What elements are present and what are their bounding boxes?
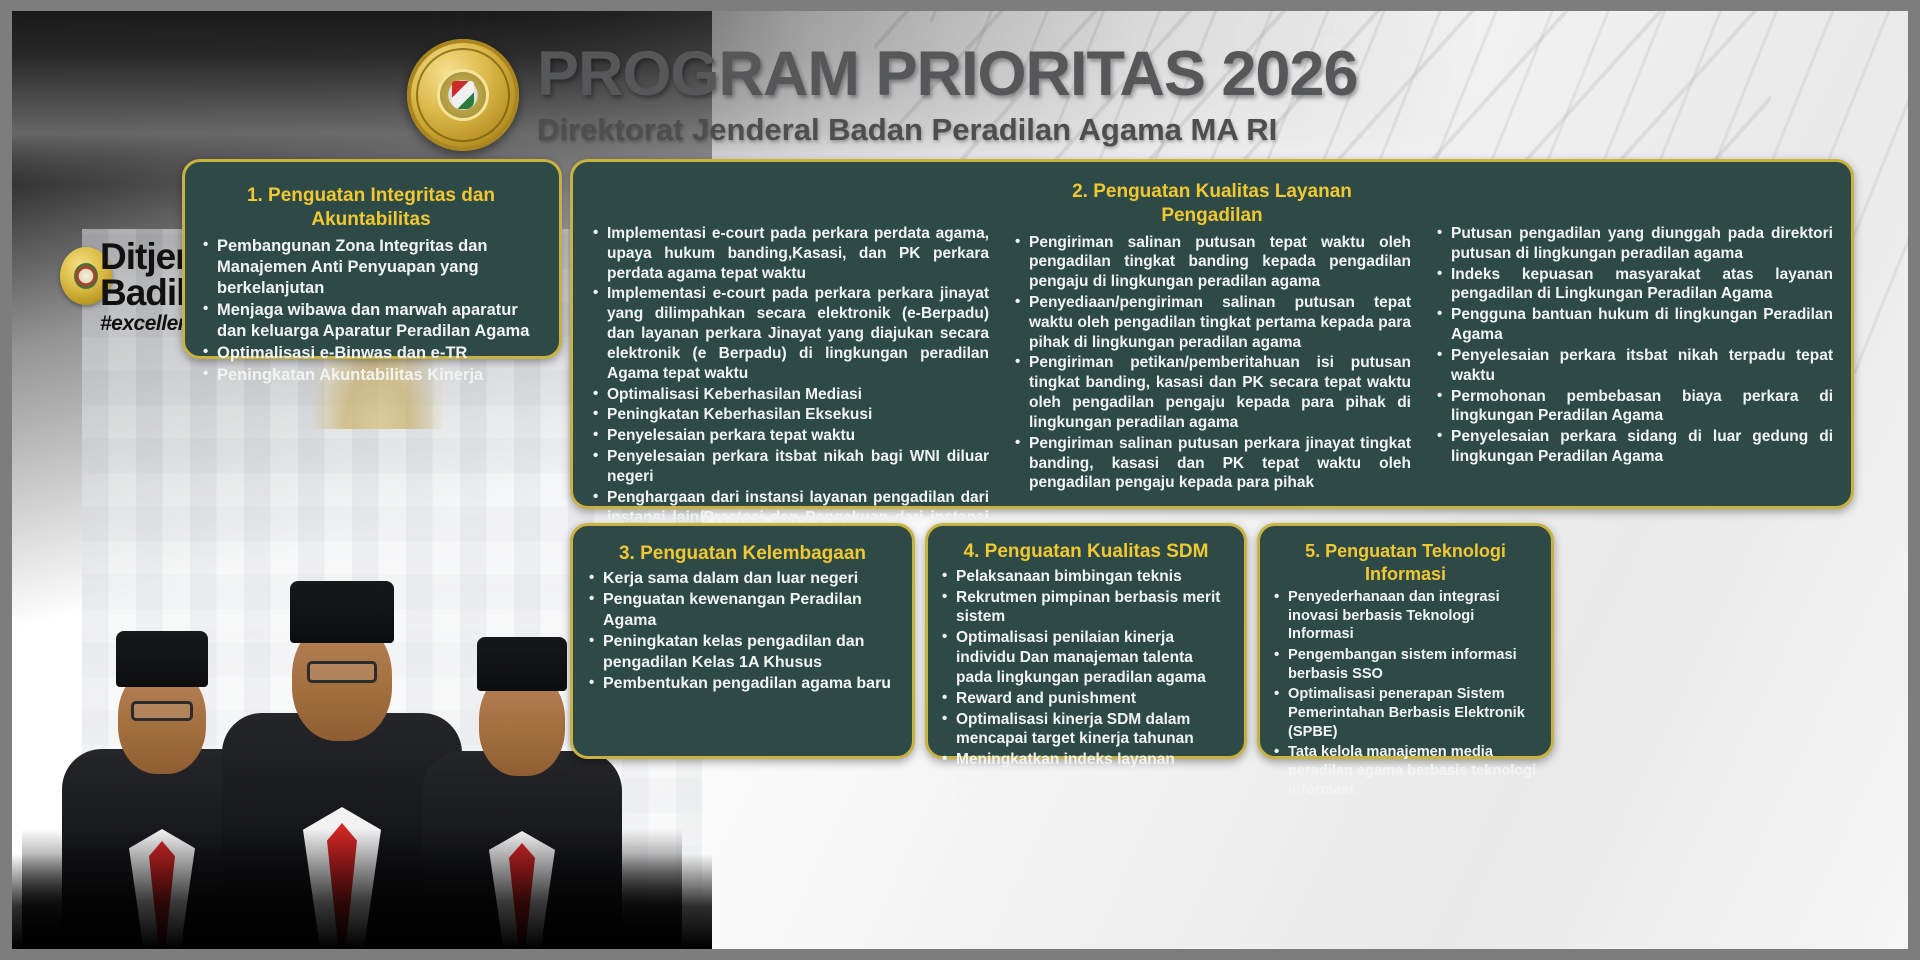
card-1-bullet-list: Pembangunan Zona Integritas dan Manajeme… [201,236,541,387]
list-item: Penyelesaian perkara sidang di luar gedu… [1435,427,1833,467]
card-2-bullet-list-3: Putusan pengadilan yang diunggah pada di… [1435,224,1833,467]
list-item: Rekrutmen pimpinan berbasis merit sistem [940,588,1232,628]
list-item: Optimalisasi Keberhasilan Mediasi [591,385,989,405]
eyeglasses [307,661,377,683]
list-item: Peningkatan Akuntabilitas Kinerja [201,365,541,386]
poster-canvas: PROGRAM PRIORITAS 2026 Direktorat Jender… [12,11,1908,949]
card-2-column-1: Implementasi e-court pada perkara perdat… [591,180,989,494]
seal-core [440,72,486,118]
card-2-bullet-list-2: Pengiriman salinan putusan tepat waktu o… [1013,233,1411,494]
list-item: Implementasi e-court pada perkara perdat… [591,224,989,283]
list-item: Meningkatkan indeks layanan kepuasan SDM [940,750,1232,790]
list-item: Pengguna bantuan hukum di lingkungan Per… [1435,305,1833,345]
card-1-title: 1. Penguatan Integritas dan Akuntabilita… [201,184,541,232]
list-item: Menjaga wibawa dan marwah aparatur dan k… [201,300,541,342]
list-item: Peningkatan Keberhasilan Eksekusi [591,405,989,425]
card-penguatan-kelembagaan[interactable]: 3. Penguatan Kelembagaan Kerja sama dala… [570,523,915,759]
poster-header: PROGRAM PRIORITAS 2026 Direktorat Jender… [407,39,1358,151]
card-penguatan-kualitas-layanan[interactable]: Implementasi e-court pada perkara perdat… [570,159,1854,509]
list-item: Penyelesaian perkara itsbat nikah bagi W… [591,447,989,487]
title-block: PROGRAM PRIORITAS 2026 Direktorat Jender… [537,43,1358,147]
list-item: Optimalisasi e-Binwas dan e-TR [201,343,541,364]
peci-cap [290,581,394,643]
list-item: Peningkatan kelas pengadilan dan pengadi… [587,632,898,673]
list-item: Penyelesaian perkara itsbat nikah terpad… [1435,346,1833,386]
list-item: Pembangunan Zona Integritas dan Manajeme… [201,236,541,299]
list-item: Implementasi e-court pada perkara perkar… [591,284,989,383]
list-item: Pengiriman petikan/pemberitahuan isi put… [1013,353,1411,432]
card-2-bullet-list-1: Implementasi e-court pada perkara perdat… [591,224,989,547]
list-item: Indeks layanan SDM [940,791,1232,811]
list-item: Kerja sama dalam dan luar negeri [587,569,898,589]
eyeglasses [131,701,193,721]
card-5-title: 5. Penguatan Teknologi Informasi [1272,540,1539,585]
card-2-title: 2. Penguatan Kualitas Layanan Pengadilan [1013,180,1411,228]
list-item: Indeks kepuasan masyarakat atas layanan … [1435,265,1833,305]
card-2-column-3: Putusan pengadilan yang diunggah pada di… [1435,180,1833,494]
poster-frame: PROGRAM PRIORITAS 2026 Direktorat Jender… [0,0,1920,960]
list-item: Pembentukan pengadilan agama baru [587,674,898,694]
list-item: Pengiriman salinan putusan tepat waktu o… [1013,233,1411,292]
card-4-bullet-list: Pelaksanaan bimbingan teknis Rekrutmen p… [940,567,1232,811]
card-4-title: 4. Penguatan Kualitas SDM [940,540,1232,564]
list-item: Putusan pengadilan yang diunggah pada di… [1435,224,1833,264]
list-item: Penyediaan/pengiriman salinan putusan te… [1013,293,1411,352]
peci-cap [477,637,567,691]
card-2-columns: Implementasi e-court pada perkara perdat… [591,180,1833,494]
list-item: Reward and punishment [940,689,1232,709]
list-item: Pelaksanaan bimbingan teknis [940,567,1232,587]
list-item: Penyederhanaan dan integrasi inovasi ber… [1272,588,1539,644]
card-5-bullet-list: Penyederhanaan dan integrasi inovasi ber… [1272,588,1539,799]
card-penguatan-integritas[interactable]: 1. Penguatan Integritas dan Akuntabilita… [182,159,562,359]
card-2-column-2: 2. Penguatan Kualitas Layanan Pengadilan… [1013,180,1411,494]
list-item: Optimalisasi penerapan Sistem Pemerintah… [1272,685,1539,741]
list-item: Optimalisasi penilaian kinerja individu … [940,628,1232,687]
list-item: Optimalisasi kinerja SDM dalam mencapai … [940,710,1232,750]
list-item: Pengiriman salinan putusan perkara jinay… [1013,434,1411,493]
page-subtitle: Direktorat Jenderal Badan Peradilan Agam… [537,113,1358,147]
list-item: Tata kelola manajemen media peradilan ag… [1272,743,1539,799]
card-3-title: 3. Penguatan Kelembagaan [587,542,898,566]
peci-cap [116,631,208,687]
photo-bottom-fade [22,829,682,949]
card-penguatan-teknologi-informasi[interactable]: 5. Penguatan Teknologi Informasi Penyede… [1257,523,1554,759]
card-3-bullet-list: Kerja sama dalam dan luar negeri Penguat… [587,569,898,695]
list-item: Penyelesaian perkara tepat waktu [591,426,989,446]
list-item: Permohonan pembebasan biaya perkara di l… [1435,387,1833,427]
list-item: Pengembangan sistem informasi berbasis S… [1272,646,1539,683]
list-item: Penguatan kewenangan Peradilan Agama [587,590,898,631]
page-title: PROGRAM PRIORITAS 2026 [537,43,1358,106]
mahkamah-agung-seal-icon [407,39,519,151]
card-penguatan-kualitas-sdm[interactable]: 4. Penguatan Kualitas SDM Pelaksanaan bi… [925,523,1247,759]
